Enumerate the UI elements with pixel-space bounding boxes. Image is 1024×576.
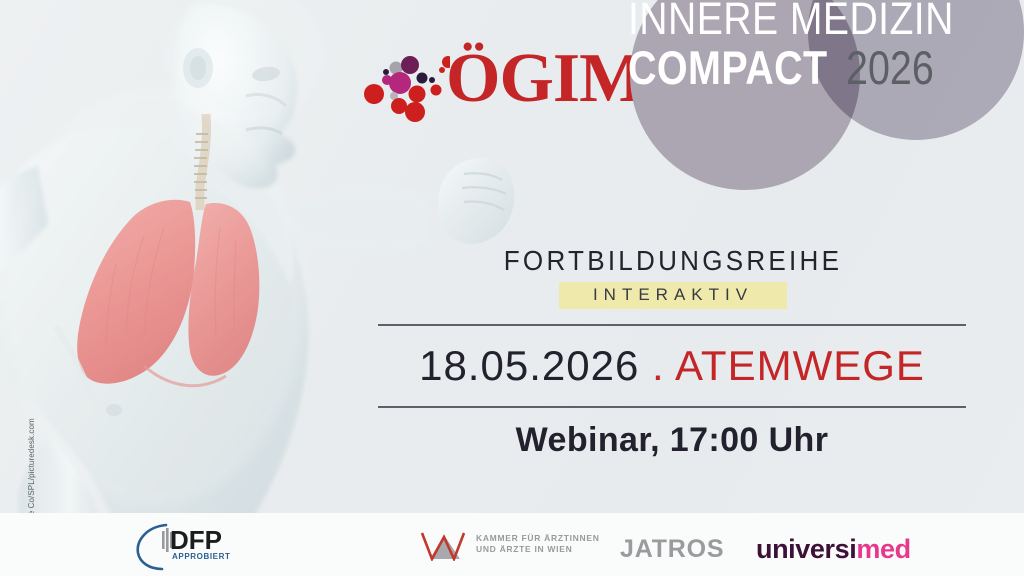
aerztekammer-wien-logo: KAMMER FÜR ÄRZTINNEN UND ÄRZTE IN WIEN bbox=[418, 531, 618, 563]
universimed-part1: universi bbox=[756, 534, 856, 564]
kammer-line1: KAMMER FÜR ÄRZTINNEN bbox=[476, 533, 600, 544]
dfp-secondary-text: APPROBIERT bbox=[172, 552, 230, 561]
universimed-logo: universimed bbox=[756, 535, 911, 563]
dfp-approbiert-logo: DFP APPROBIERT bbox=[132, 519, 242, 571]
dfp-primary-text: DFP bbox=[170, 527, 222, 553]
event-format-time: Webinar, 17:00 Uhr bbox=[378, 418, 966, 462]
universimed-part2: med bbox=[856, 534, 910, 564]
event-dateline: 18.05.2026 . ATEMWEGE bbox=[378, 338, 966, 394]
kammer-line2: UND ÄRZTE IN WIEN bbox=[476, 544, 600, 555]
headline-row2: COMPACT 2026 bbox=[628, 44, 1024, 92]
headline-line1: INNERE MEDIZIN bbox=[628, 0, 976, 42]
divider-bottom bbox=[378, 406, 966, 408]
divider-top bbox=[378, 324, 966, 326]
headline-circles: INNERE MEDIZIN COMPACT 2026 bbox=[600, 0, 1024, 240]
headline-compact: COMPACT bbox=[628, 44, 828, 92]
kammer-mark-icon bbox=[418, 531, 472, 561]
kammer-text: KAMMER FÜR ÄRZTINNEN UND ÄRZTE IN WIEN bbox=[476, 533, 600, 555]
series-title: FORTBILDUNGSREIHE bbox=[399, 246, 948, 276]
footer-bar: DFP APPROBIERT KAMMER FÜR ÄRZTINNEN UND … bbox=[0, 513, 1024, 576]
status-badge: INTERAKTIV bbox=[559, 282, 787, 309]
jatros-logo: JATROS bbox=[620, 537, 724, 562]
series-badge-wrap: INTERAKTIV bbox=[378, 282, 968, 309]
event-topic: ATEMWEGE bbox=[675, 342, 925, 389]
poster-canvas: ÖGIM INNERE MEDIZIN COMPACT 2026 FORTBIL… bbox=[0, 0, 1024, 576]
event-separator: . bbox=[652, 342, 665, 389]
headline-block: INNERE MEDIZIN COMPACT 2026 bbox=[600, 0, 1024, 240]
ogim-dot-cluster bbox=[364, 50, 450, 124]
ogim-logo: ÖGIM bbox=[368, 38, 618, 132]
event-date: 18.05.2026 bbox=[419, 342, 639, 389]
headline-year: 2026 bbox=[846, 44, 934, 92]
hand-fist-detail bbox=[430, 150, 520, 260]
